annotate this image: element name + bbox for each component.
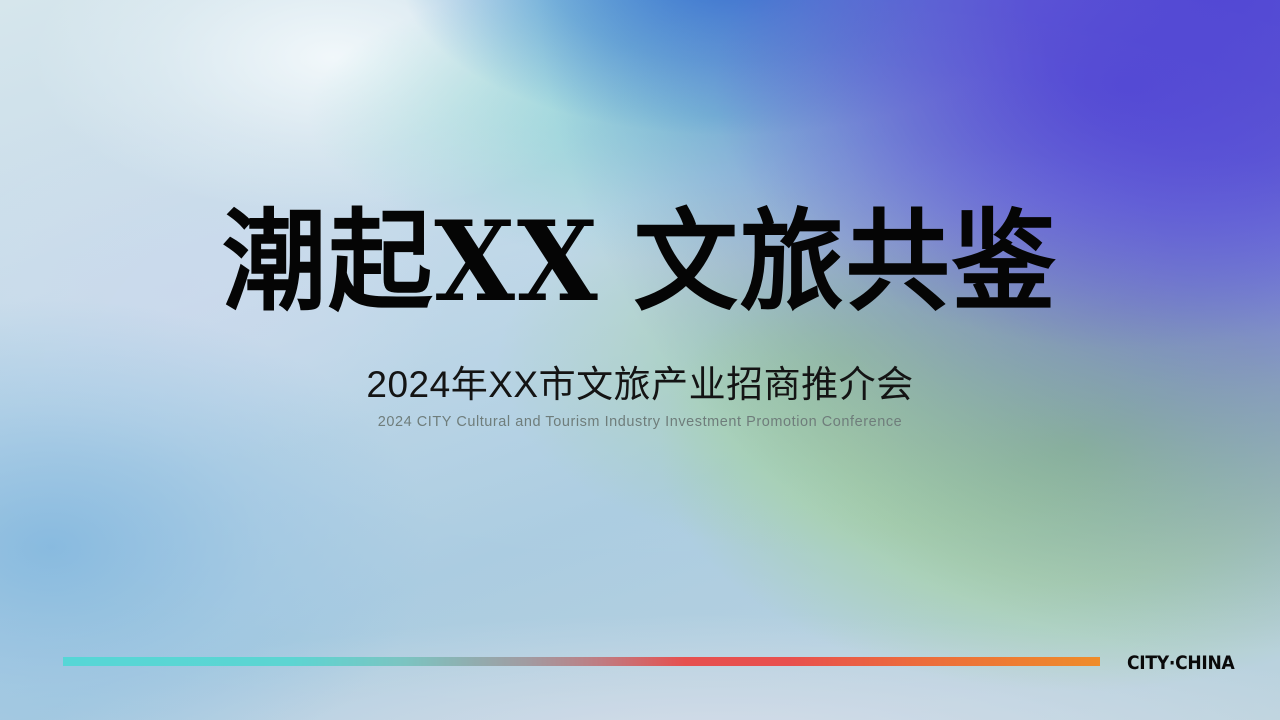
background-mesh-gradient	[0, 0, 1280, 720]
title-secondary-text: 文旅共鉴	[634, 196, 1058, 326]
background-soften-overlay	[0, 0, 1280, 720]
background-base-gradient	[0, 0, 1280, 720]
presentation-slide: 潮起XX文旅共鉴 2024年XX市文旅产业招商推介会 2024 CITY Cul…	[0, 0, 1280, 720]
subtitle-english: 2024 CITY Cultural and Tourism Industry …	[0, 414, 1280, 430]
page-title: 潮起XX文旅共鉴	[0, 203, 1280, 322]
subtitle-block: 2024年XX市文旅产业招商推介会 2024 CITY Cultural and…	[0, 362, 1280, 430]
title-main-text: 潮起XX	[222, 196, 599, 326]
gradient-divider-bar	[63, 657, 1100, 666]
subtitle-chinese: 2024年XX市文旅产业招商推介会	[0, 362, 1280, 407]
city-china-logo: CITY·CHINA	[1127, 652, 1235, 674]
